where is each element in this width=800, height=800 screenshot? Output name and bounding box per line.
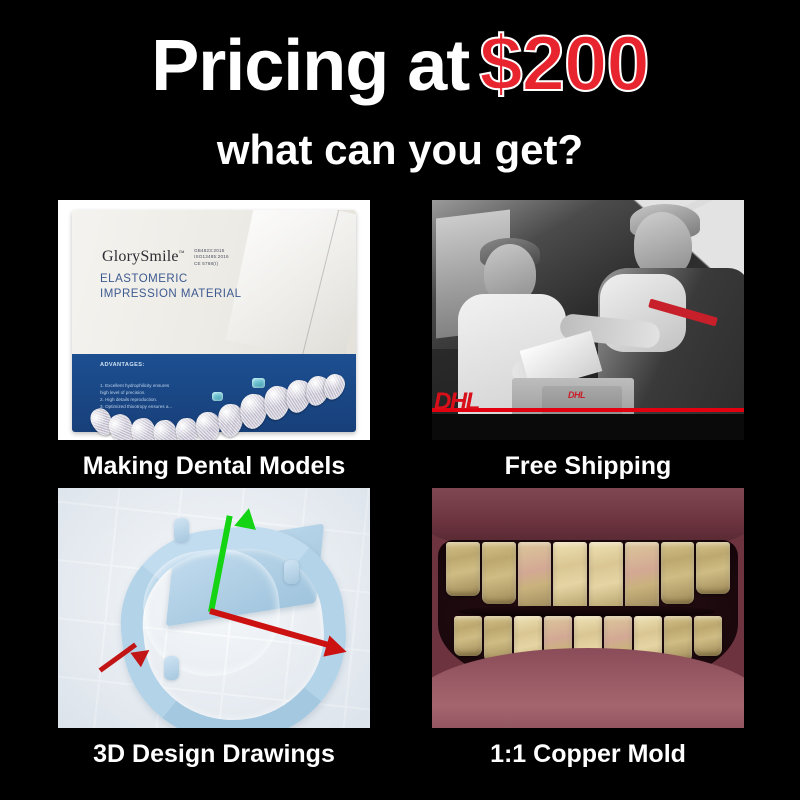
photo-cad-viewport (58, 488, 370, 728)
caption-3d-design-drawings: 3D Design Drawings (58, 728, 370, 769)
thumbnail-3d-design (58, 488, 370, 728)
cad-alignment-peg (174, 518, 189, 542)
page-title: Pricing at$200 (0, 24, 800, 105)
grillz-tooth (661, 542, 695, 604)
product-line-1: ELASTOMERIC (100, 272, 242, 287)
header: Pricing at$200 what can you get? (0, 0, 800, 190)
trademark-mark: ™ (179, 251, 185, 257)
diamond-grillz-arch (92, 368, 340, 440)
gemstone-accent (212, 392, 223, 401)
caption-free-shipping: Free Shipping (432, 440, 744, 481)
lower-lip (432, 648, 744, 728)
grillz-tooth (625, 542, 659, 612)
axis-arrow-y-head (234, 506, 259, 530)
grillz-tooth (518, 542, 552, 612)
caption-copper-mold: 1:1 Copper Mold (432, 728, 744, 769)
thumbnail-copper-mold (432, 488, 744, 728)
product-line-2: IMPRESSION MATERIAL (100, 287, 242, 302)
photo-gold-grillz-mouth (432, 488, 744, 728)
grillz-tooth (696, 542, 730, 594)
grid-cell-free-shipping: DHL DHL Free Shipping (432, 200, 744, 481)
photo-impression-material: GlorySmile™ GB4823:2015 ISO13485:2016 CE… (58, 200, 370, 440)
grillz-tooth (589, 542, 623, 614)
photo-bottom-band (432, 414, 744, 440)
grid-cell-3d-design-drawings: 3D Design Drawings (58, 488, 370, 769)
brand-text: GlorySmile (102, 248, 179, 265)
box-fold-shading (226, 210, 356, 365)
grillz-tooth (454, 616, 482, 656)
cad-alignment-peg (164, 656, 179, 680)
grillz-tooth (694, 616, 722, 656)
thumbnail-making-dental-models: GlorySmile™ GB4823:2015 ISO13485:2016 CE… (58, 200, 370, 440)
promo-graphic: Pricing at$200 what can you get? GlorySm… (0, 0, 800, 800)
page-subtitle: what can you get? (0, 126, 800, 174)
crate-dhl-logo: DHL (568, 390, 585, 400)
grid-cell-copper-mold: 1:1 Copper Mold (432, 488, 744, 769)
grillz-tooth (482, 542, 516, 604)
box-certifications: GB4823:2015 ISO13485:2016 CE 5768(I) (194, 248, 229, 267)
grid-cell-making-dental-models: GlorySmile™ GB4823:2015 ISO13485:2016 CE… (58, 200, 370, 481)
gemstone-accent (252, 378, 265, 388)
dhl-logo: DHL (434, 390, 479, 414)
title-prefix: Pricing at (151, 26, 469, 106)
grillz-tooth (553, 542, 587, 614)
photo-dhl-courier: DHL DHL (432, 200, 744, 440)
thumbnail-free-shipping: DHL DHL (432, 200, 744, 440)
grillz-tooth (446, 542, 480, 596)
box-brand-name: GlorySmile™ (102, 248, 185, 266)
feature-grid: GlorySmile™ GB4823:2015 ISO13485:2016 CE… (0, 196, 800, 796)
price-amount: $200 (479, 19, 649, 107)
cad-alignment-peg (284, 560, 299, 584)
box-product-name: ELASTOMERIC IMPRESSION MATERIAL (100, 272, 242, 301)
caption-making-dental-models: Making Dental Models (58, 440, 370, 481)
upper-grillz-row (446, 542, 730, 616)
